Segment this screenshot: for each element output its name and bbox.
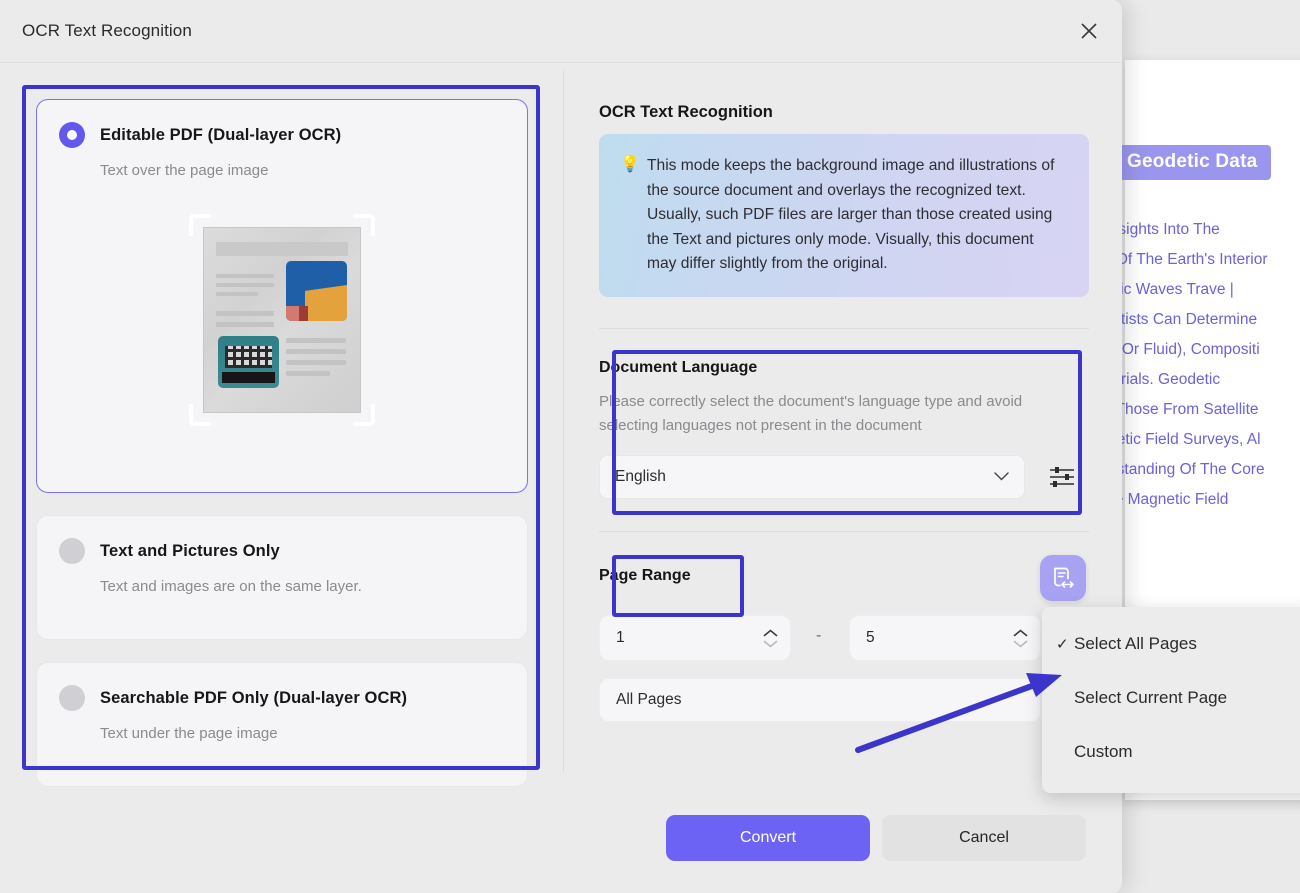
mode-info-callout: 💡 This mode keeps the background image a… xyxy=(599,134,1089,297)
sliders-icon[interactable] xyxy=(1044,459,1080,495)
dropdown-item-label: Select Current Page xyxy=(1074,688,1227,708)
mode-option-header: Searchable PDF Only (Dual-layer OCR) xyxy=(37,663,527,711)
mode-options-panel: Editable PDF (Dual-layer OCR) Text over … xyxy=(36,63,528,809)
dropdown-item-select-all-pages[interactable]: ✓ Select All Pages xyxy=(1042,617,1300,671)
dialog-body: Editable PDF (Dual-layer OCR) Text over … xyxy=(0,63,1122,893)
close-icon[interactable] xyxy=(1071,13,1107,49)
mode-option-text-pictures-only[interactable]: Text and Pictures Only Text and images a… xyxy=(36,515,528,640)
cancel-button[interactable]: Cancel xyxy=(882,815,1086,861)
page-range-from-input[interactable]: 1 xyxy=(599,615,791,661)
lightbulb-icon: 💡 xyxy=(620,157,642,277)
language-section-title: Document Language xyxy=(599,359,757,377)
dialog-header: OCR Text Recognition xyxy=(0,0,1122,63)
page-range-title: Page Range xyxy=(599,567,691,585)
mode-option-description: Text over the page image xyxy=(100,162,527,179)
page-range-to-value: 5 xyxy=(866,629,1013,647)
mode-option-header: Editable PDF (Dual-layer OCR) xyxy=(37,100,527,148)
convert-button[interactable]: Convert xyxy=(666,815,870,861)
settings-heading: OCR Text Recognition xyxy=(599,103,773,122)
mode-option-editable-pdf[interactable]: Editable PDF (Dual-layer OCR) Text over … xyxy=(36,99,528,493)
background-document-title: Geodetic Data xyxy=(1113,145,1271,180)
mode-option-label: Text and Pictures Only xyxy=(100,542,280,561)
section-divider xyxy=(599,531,1089,532)
dialog-footer: Convert Cancel xyxy=(0,800,1122,893)
screen: Geodetic Data vides Insights Into The pe… xyxy=(0,0,1300,893)
page-range-to-input[interactable]: 5 xyxy=(849,615,1041,661)
dropdown-item-custom[interactable]: Custom xyxy=(1042,725,1300,779)
page-range-preset-value: All Pages xyxy=(616,691,681,709)
mode-option-label: Editable PDF (Dual-layer OCR) xyxy=(100,126,341,145)
radio-icon-searchable-pdf-only[interactable] xyxy=(59,685,85,711)
mode-option-header: Text and Pictures Only xyxy=(37,516,527,564)
document-range-icon[interactable] xyxy=(1040,555,1086,601)
dropdown-item-select-current-page[interactable]: Select Current Page xyxy=(1042,671,1300,725)
mode-option-description: Text and images are on the same layer. xyxy=(100,578,527,595)
page-range-preset-select[interactable]: All Pages xyxy=(599,678,1041,722)
mode-option-label: Searchable PDF Only (Dual-layer OCR) xyxy=(100,689,407,708)
radio-icon-editable-pdf[interactable] xyxy=(59,122,85,148)
dropdown-item-label: Select All Pages xyxy=(1074,634,1197,654)
mode-info-text: This mode keeps the background image and… xyxy=(647,154,1067,277)
page-selection-dropdown: ✓ Select All Pages Select Current Page C… xyxy=(1042,607,1300,793)
language-select[interactable]: English xyxy=(599,455,1025,499)
preview-page xyxy=(203,227,361,413)
page-range-to-stepper[interactable] xyxy=(1013,629,1028,648)
chevron-down-icon xyxy=(994,468,1009,486)
page-range-from-stepper[interactable] xyxy=(763,629,778,648)
radio-icon-text-pictures-only[interactable] xyxy=(59,538,85,564)
ocr-dialog: OCR Text Recognition Editable PDF (Dual-… xyxy=(0,0,1122,893)
section-divider xyxy=(599,328,1089,329)
language-select-value: English xyxy=(615,468,994,486)
language-section-hint: Please correctly select the document's l… xyxy=(599,390,1069,438)
mode-option-searchable-pdf-only[interactable]: Searchable PDF Only (Dual-layer OCR) Tex… xyxy=(36,662,528,787)
mode-option-description: Text under the page image xyxy=(100,725,527,742)
preview-image-chart xyxy=(286,261,347,321)
settings-panel: OCR Text Recognition 💡 This mode keeps t… xyxy=(564,63,1122,893)
document-preview-thumbnail xyxy=(189,214,375,426)
dialog-title: OCR Text Recognition xyxy=(22,21,192,41)
page-range-from-value: 1 xyxy=(616,629,763,647)
check-icon: ✓ xyxy=(1056,635,1069,653)
dropdown-item-label: Custom xyxy=(1074,742,1133,762)
preview-image-photo xyxy=(218,336,279,388)
page-range-separator: - xyxy=(816,627,821,645)
